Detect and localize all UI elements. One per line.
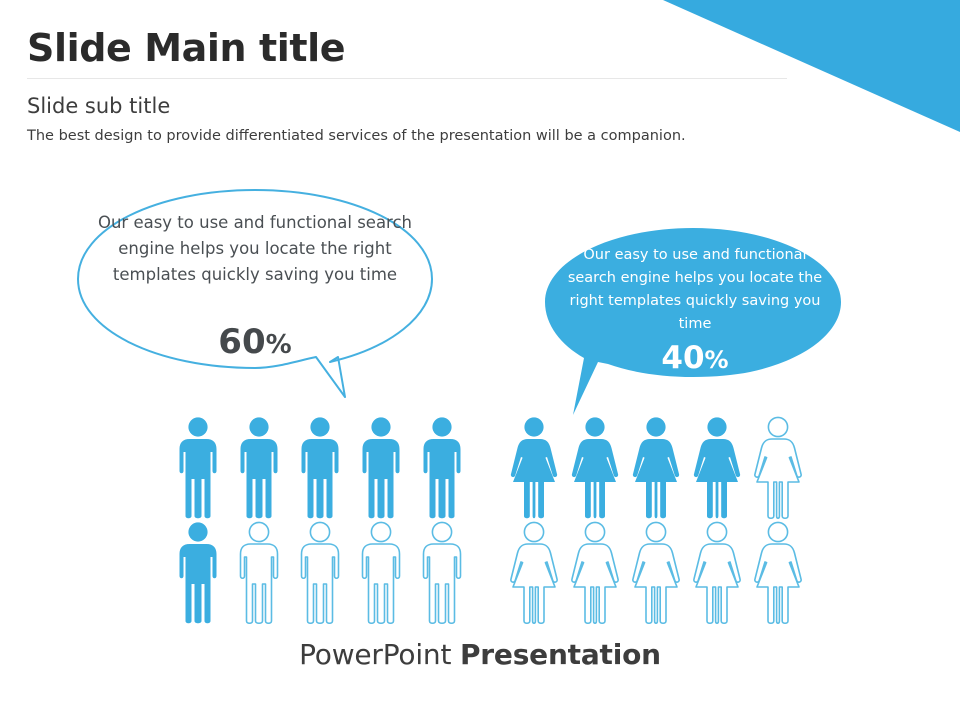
slide-subtitle: Slide sub title — [27, 93, 170, 119]
female-figure-icon — [691, 521, 743, 629]
speech-bubble-right: Our easy to use and functional search en… — [540, 222, 850, 422]
percent-number-left: 60 — [218, 322, 265, 362]
male-figure-icon — [416, 416, 468, 524]
slide-header: Slide Main title — [27, 26, 827, 70]
corner-triangle-decoration — [640, 0, 960, 140]
male-figure-icon — [416, 521, 468, 629]
female-figure-icon — [569, 416, 621, 524]
slide-description: The best design to provide differentiate… — [27, 126, 686, 146]
male-figure-icon — [355, 521, 407, 629]
female-figure-icon — [569, 521, 621, 629]
female-figure-icon — [630, 521, 682, 629]
male-figure-icon — [294, 521, 346, 629]
title-divider — [27, 78, 787, 79]
male-figure-icon — [355, 416, 407, 524]
female-figure-icon — [630, 416, 682, 524]
male-figure-icon — [172, 521, 224, 629]
male-figure-icon — [233, 416, 285, 524]
female-figure-icon — [752, 521, 804, 629]
speech-bubble-left: Our easy to use and functional search en… — [70, 182, 440, 412]
speech-bubble-right-percent: 40% — [562, 340, 828, 376]
footer-brand: PowerPoint Presentation — [0, 638, 960, 671]
slide-canvas: Slide Main title Slide sub title The bes… — [0, 0, 960, 720]
female-figure-icon — [752, 416, 804, 524]
male-figure-icon — [294, 416, 346, 524]
female-figure-icon — [508, 416, 560, 524]
speech-bubble-left-percent: 60% — [90, 322, 420, 362]
female-figure-icon — [508, 521, 560, 629]
speech-bubble-left-text: Our easy to use and functional search en… — [90, 210, 420, 288]
footer-bold-text: Presentation — [460, 638, 661, 671]
footer-light-text: PowerPoint — [299, 638, 460, 671]
percent-number-right: 40 — [661, 340, 704, 376]
percent-symbol-left: % — [266, 330, 292, 360]
speech-bubble-right-text: Our easy to use and functional search en… — [562, 244, 828, 336]
female-figure-icon — [691, 416, 743, 524]
male-figure-icon — [233, 521, 285, 629]
percent-symbol-right: % — [705, 346, 729, 374]
male-figure-icon — [172, 416, 224, 524]
page-title: Slide Main title — [27, 26, 827, 70]
